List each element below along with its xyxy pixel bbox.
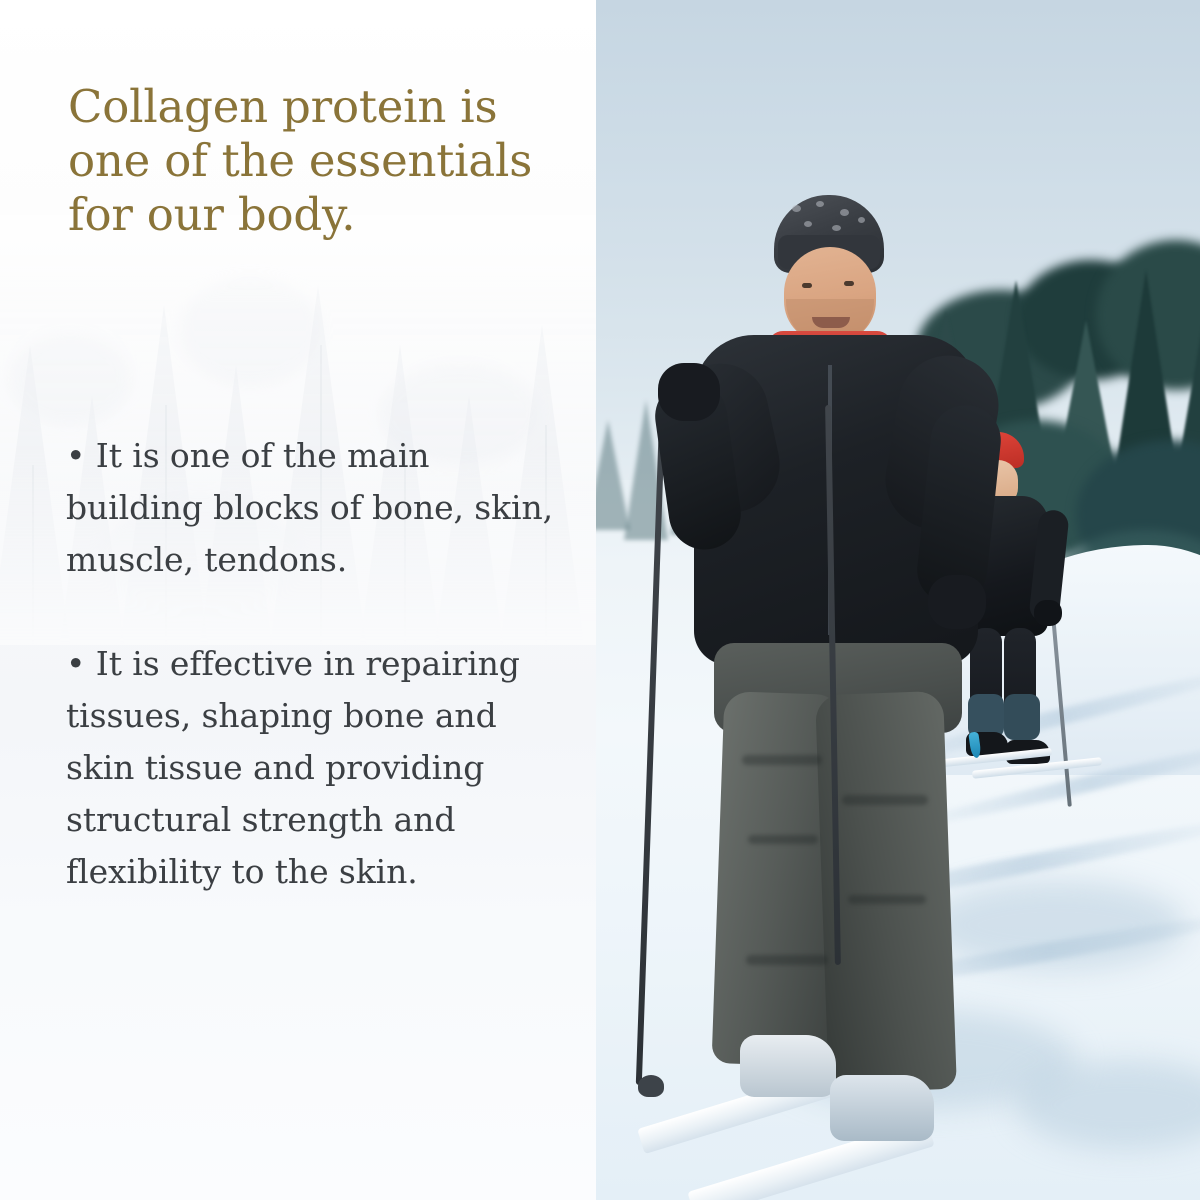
page-title: Collagen protein is one of the essential… xyxy=(68,80,578,242)
winter-skiing-photo xyxy=(596,0,1200,1200)
list-item: • It is one of the main building blocks … xyxy=(66,430,566,586)
bullet-list: • It is one of the main building blocks … xyxy=(66,430,566,898)
left-text-panel: Collagen protein is one of the essential… xyxy=(0,0,596,1200)
glove-left xyxy=(658,363,720,421)
ski-boot-left xyxy=(740,1035,836,1097)
poster-canvas: Collagen protein is one of the essential… xyxy=(0,0,1200,1200)
foreground-skier xyxy=(656,195,1016,1200)
ski-boot-right xyxy=(830,1075,934,1141)
glove-right xyxy=(928,575,986,629)
list-item: • It is effective in repairing tissues, … xyxy=(66,638,566,898)
